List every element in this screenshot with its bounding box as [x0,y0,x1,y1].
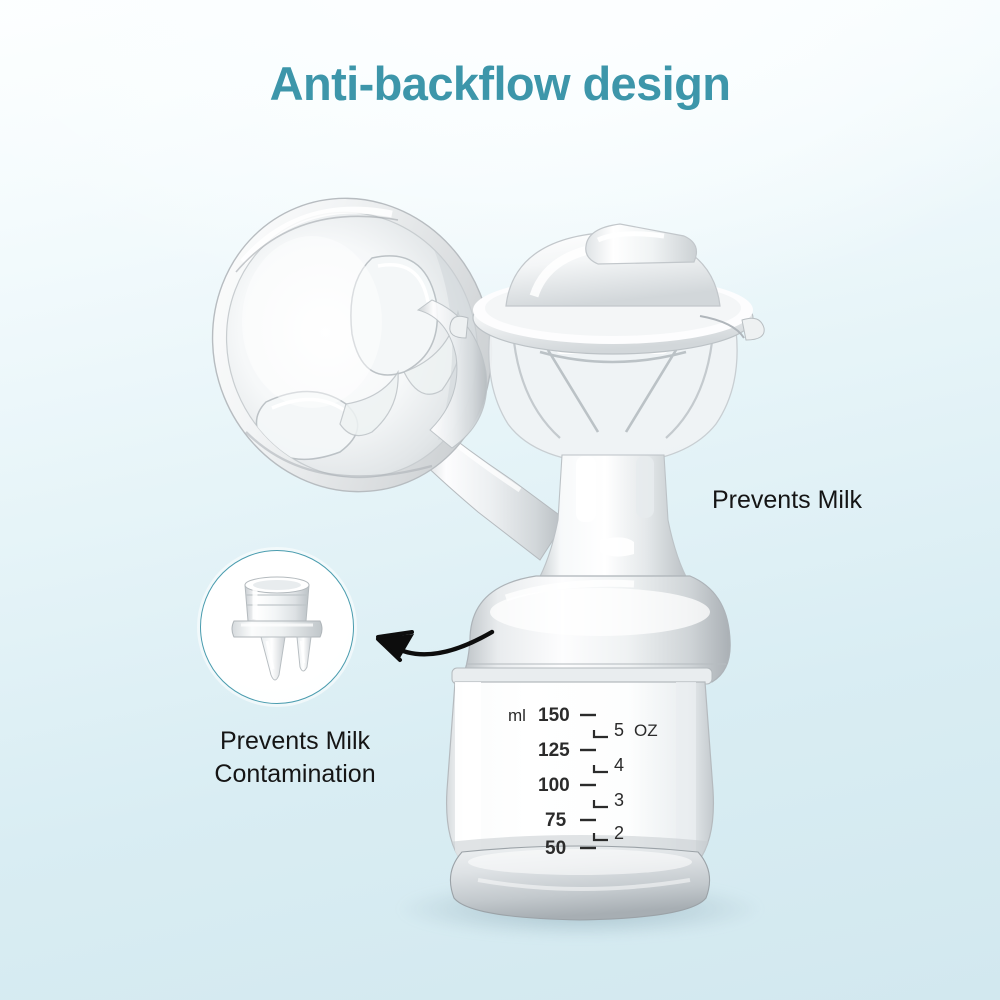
duckbill-valve-icon [201,551,353,703]
scale-unit-ml: ml [508,706,526,725]
callout-left-line-2: Contamination [170,758,420,791]
scale-unit-oz: OZ [634,721,658,740]
milk-bottle: ml 150 125 100 75 50 5 OZ 4 3 [447,682,716,920]
callout-left-line-1: Prevents Milk [170,725,420,758]
ml-mark-1: 125 [538,740,570,761]
oz-mark-0: 5 [614,720,624,740]
bottle-shoulder-collar [452,576,730,684]
ml-mark-3: 75 [545,810,567,831]
pump-body-neck [536,455,690,584]
valve-inset-circle [200,550,354,704]
callout-prevents-milk: Prevents Milk [712,484,862,517]
infographic-canvas: Anti-backflow design [0,0,1000,1000]
oz-mark-2: 3 [614,790,624,810]
ml-mark-0: 150 [538,705,570,726]
ml-mark-2: 100 [538,775,570,796]
callout-prevents-milk-contamination: Prevents Milk Contamination [170,725,420,791]
oz-mark-3: 2 [614,823,624,843]
ml-mark-4: 50 [545,838,566,859]
oz-mark-1: 4 [614,755,624,775]
pump-valve-head [450,224,764,464]
